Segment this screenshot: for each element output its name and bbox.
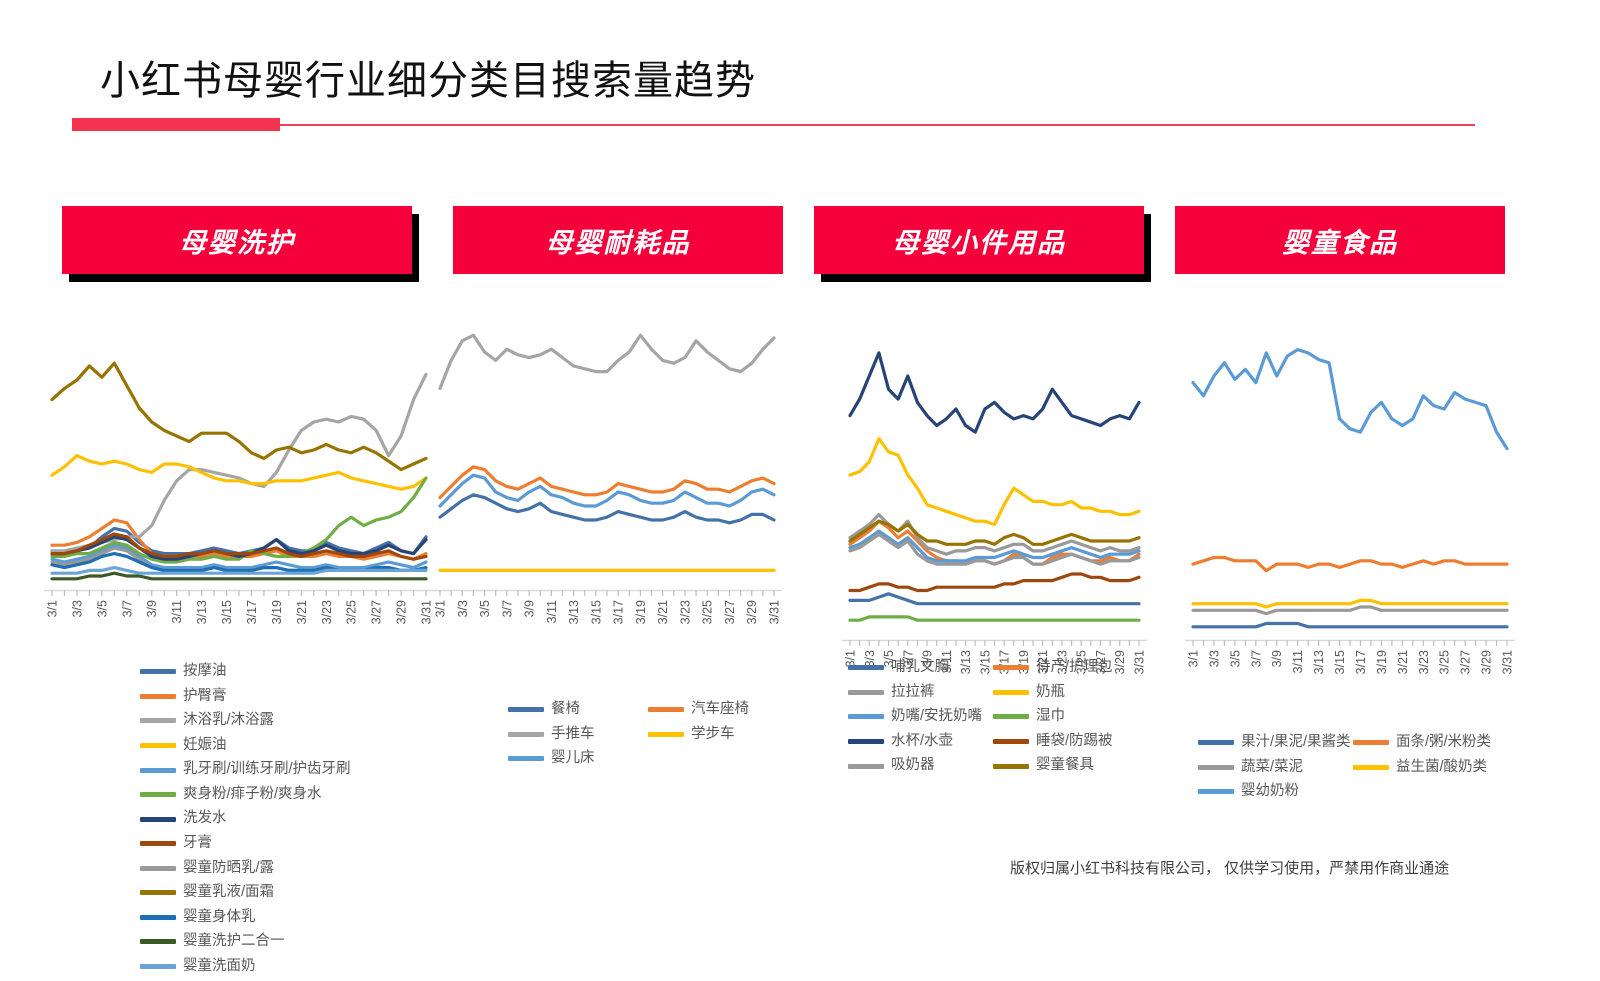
legend-item-label: 手推车 bbox=[551, 725, 595, 745]
series-line bbox=[850, 353, 1139, 432]
legend-color-swatch bbox=[140, 768, 176, 773]
legend-item-label: 婴童洗面奶 bbox=[183, 957, 256, 977]
x-axis-tick-label: 3/13 bbox=[1312, 650, 1326, 674]
series-line bbox=[1193, 350, 1507, 449]
legend-item[interactable]: 睡袋/防踢被 bbox=[993, 732, 1124, 752]
title-block: 小红书母婴行业细分类目搜索量趋势 bbox=[100, 58, 1500, 104]
x-axis-tick-label: 3/27 bbox=[723, 600, 737, 624]
x-axis-tick-label: 3/13 bbox=[195, 600, 209, 624]
section-chip-label-0: 母婴洗护 bbox=[62, 206, 412, 274]
legend-item-label: 餐椅 bbox=[551, 700, 580, 720]
series-line bbox=[52, 456, 426, 490]
series-line bbox=[440, 467, 774, 498]
legend-item-label: 奶瓶 bbox=[1036, 683, 1065, 703]
x-axis-tick-label: 3/27 bbox=[370, 600, 384, 624]
legend-color-swatch bbox=[648, 707, 684, 712]
legend-color-swatch bbox=[140, 939, 176, 944]
legend-color-swatch bbox=[848, 739, 884, 744]
legend-item-label: 益生菌/酸奶类 bbox=[1396, 758, 1487, 778]
title-underline-rule bbox=[72, 124, 1475, 126]
legend-item-label: 婴童餐具 bbox=[1036, 756, 1094, 776]
x-axis-tick-label: 3/5 bbox=[95, 600, 109, 617]
legend-color-swatch bbox=[140, 915, 176, 920]
legend-color-swatch bbox=[508, 732, 544, 737]
legend-color-swatch bbox=[140, 694, 176, 699]
legend-item[interactable]: 爽身粉/痱子粉/爽身水 bbox=[140, 785, 426, 805]
x-axis-tick-label: 3/21 bbox=[656, 600, 670, 624]
legend-color-swatch bbox=[993, 665, 1029, 670]
x-axis-tick-label: 3/25 bbox=[701, 600, 715, 624]
x-axis-tick-label: 3/23 bbox=[678, 600, 692, 624]
legend-item[interactable]: 拉拉裤 bbox=[848, 683, 979, 703]
x-axis-tick-label: 3/3 bbox=[70, 600, 84, 617]
x-axis-tick-label: 3/19 bbox=[1375, 650, 1389, 674]
x-axis-tick-label: 3/9 bbox=[1270, 650, 1284, 667]
legend-item[interactable]: 按摩油 bbox=[140, 662, 426, 682]
x-axis-tick-label: 3/17 bbox=[245, 600, 259, 624]
chart-panel-baby-food: 3/13/33/53/73/93/113/133/153/173/193/213… bbox=[1185, 310, 1515, 706]
legend-item[interactable]: 汽车座椅 bbox=[648, 700, 774, 720]
legend-color-swatch bbox=[140, 964, 176, 969]
legend-item[interactable]: 湿巾 bbox=[993, 707, 1124, 727]
legend-item-label: 哺乳文胸 bbox=[891, 658, 949, 678]
legend-item-label: 学步车 bbox=[691, 725, 735, 745]
x-axis-tick-label: 3/25 bbox=[1438, 650, 1452, 674]
legend-item[interactable]: 蔬菜/菜泥 bbox=[1198, 758, 1339, 778]
x-axis-tick-label: 3/15 bbox=[589, 600, 603, 624]
legend-color-swatch bbox=[1353, 765, 1389, 770]
legend-item-label: 按摩油 bbox=[183, 662, 227, 682]
x-axis-tick-label: 3/11 bbox=[1291, 650, 1305, 673]
legend-item-label: 护臀膏 bbox=[183, 687, 227, 707]
x-axis-tick-label: 3/29 bbox=[745, 600, 759, 624]
x-axis-tick-label: 3/19 bbox=[270, 600, 284, 624]
legend-item[interactable]: 奶瓶 bbox=[993, 683, 1124, 703]
legend-item-label: 睡袋/防踢被 bbox=[1036, 732, 1113, 752]
series-line bbox=[850, 617, 1139, 620]
x-axis-tick-label: 3/21 bbox=[295, 600, 309, 624]
section-chip-1[interactable]: 母婴耐耗品 bbox=[453, 206, 783, 274]
section-chip-label-2: 母婴小件用品 bbox=[814, 206, 1144, 274]
legend-item[interactable]: 牙膏 bbox=[140, 834, 426, 854]
legend-item[interactable]: 吸奶器 bbox=[848, 756, 979, 776]
x-axis-tick-label: 3/29 bbox=[1480, 650, 1494, 674]
legend-color-swatch bbox=[993, 764, 1029, 769]
line-chart-svg: 3/13/33/53/73/93/113/133/153/173/193/213… bbox=[842, 310, 1147, 706]
legend-color-swatch bbox=[993, 739, 1029, 744]
legend-item-label: 婴童洗护二合一 bbox=[183, 932, 285, 952]
series-line bbox=[440, 335, 774, 388]
x-axis-tick-label: 3/25 bbox=[345, 600, 359, 624]
legend-item[interactable]: 益生菌/酸奶类 bbox=[1353, 758, 1494, 778]
x-axis-tick-label: 3/3 bbox=[456, 600, 470, 617]
chart-legend-3: 果汁/果泥/果酱类面条/粥/米粉类蔬菜/菜泥益生菌/酸奶类婴幼奶粉 bbox=[1198, 733, 1508, 807]
legend-item-label: 湿巾 bbox=[1036, 707, 1065, 727]
legend-item[interactable]: 婴童洗护二合一 bbox=[140, 932, 426, 952]
legend-color-swatch bbox=[140, 669, 176, 674]
legend-color-swatch bbox=[140, 841, 176, 846]
legend-color-swatch bbox=[848, 690, 884, 695]
x-axis-tick-label: 3/11 bbox=[170, 600, 184, 623]
legend-item-label: 洗发水 bbox=[183, 809, 227, 829]
legend-item-label: 汽车座椅 bbox=[691, 700, 749, 720]
section-chip-label-3: 婴童食品 bbox=[1175, 206, 1505, 274]
legend-color-swatch bbox=[140, 743, 176, 748]
legend-item[interactable]: 手推车 bbox=[508, 725, 634, 745]
legend-color-swatch bbox=[140, 817, 176, 822]
x-axis-tick-label: 3/1 bbox=[434, 600, 448, 617]
legend-item-label: 奶嘴/安抚奶嘴 bbox=[891, 707, 982, 727]
legend-color-swatch bbox=[848, 764, 884, 769]
series-line bbox=[850, 574, 1139, 591]
x-axis-tick-label: 3/13 bbox=[567, 600, 581, 624]
x-axis-tick-label: 3/11 bbox=[545, 600, 559, 623]
legend-color-swatch bbox=[140, 718, 176, 723]
legend-item[interactable]: 沐浴乳/沐浴露 bbox=[140, 711, 426, 731]
x-axis-tick-label: 3/3 bbox=[1207, 650, 1221, 667]
legend-color-swatch bbox=[140, 866, 176, 871]
series-line bbox=[52, 363, 426, 469]
series-line bbox=[1193, 558, 1507, 571]
legend-item-label: 牙膏 bbox=[183, 834, 212, 854]
x-axis-tick-label: 3/31 bbox=[1501, 650, 1515, 674]
legend-item[interactable]: 待产/护理包 bbox=[993, 658, 1124, 678]
legend-item-label: 待产/护理包 bbox=[1036, 658, 1113, 678]
x-axis-tick-label: 3/1 bbox=[1187, 650, 1201, 667]
series-line bbox=[1193, 600, 1507, 607]
legend-item-label: 乳牙刷/训练牙刷/护齿牙刷 bbox=[183, 760, 351, 780]
copyright-footer: 版权归属小红书科技有限公司， 仅供学习使用，严禁用作商业通途 bbox=[1010, 857, 1449, 878]
x-axis-tick-label: 3/7 bbox=[120, 600, 134, 617]
legend-item[interactable]: 婴儿床 bbox=[508, 749, 634, 769]
chart-legend-1: 餐椅汽车座椅手推车学步车婴儿床 bbox=[508, 700, 788, 774]
x-axis-tick-label: 3/17 bbox=[612, 600, 626, 624]
series-line bbox=[1193, 624, 1507, 627]
x-axis-tick-label: 3/27 bbox=[1459, 650, 1473, 674]
legend-item-label: 爽身粉/痱子粉/爽身水 bbox=[183, 785, 322, 805]
x-axis-tick-label: 3/17 bbox=[1354, 650, 1368, 674]
x-axis-tick-label: 3/5 bbox=[478, 600, 492, 617]
legend-color-swatch bbox=[140, 890, 176, 895]
legend-item-label: 蔬菜/菜泥 bbox=[1241, 758, 1303, 778]
legend-item-label: 婴童身体乳 bbox=[183, 908, 256, 928]
line-chart-svg: 3/13/33/53/73/93/113/133/153/173/193/213… bbox=[44, 310, 434, 656]
legend-color-swatch bbox=[848, 665, 884, 670]
x-axis-tick-label: 3/19 bbox=[634, 600, 648, 624]
x-axis-tick-label: 3/15 bbox=[1333, 650, 1347, 674]
legend-item-label: 婴童防晒乳/露 bbox=[183, 859, 274, 879]
legend-item-label: 婴儿床 bbox=[551, 749, 595, 769]
legend-color-swatch bbox=[648, 732, 684, 737]
legend-color-swatch bbox=[508, 756, 544, 761]
legend-item-label: 婴幼奶粉 bbox=[1241, 782, 1299, 802]
legend-item[interactable]: 乳牙刷/训练牙刷/护齿牙刷 bbox=[140, 760, 426, 780]
legend-item[interactable]: 学步车 bbox=[648, 725, 774, 745]
x-axis-tick-label: 3/9 bbox=[145, 600, 159, 617]
series-line bbox=[1193, 607, 1507, 614]
section-chip-2[interactable]: 母婴小件用品 bbox=[814, 206, 1144, 274]
legend-item[interactable]: 哺乳文胸 bbox=[848, 658, 979, 678]
legend-item-label: 妊娠油 bbox=[183, 736, 227, 756]
x-axis-tick-label: 3/7 bbox=[1249, 650, 1263, 667]
x-axis-tick-label: 3/23 bbox=[1417, 650, 1431, 674]
line-chart-svg: 3/13/33/53/73/93/113/133/153/173/193/213… bbox=[1185, 310, 1515, 706]
legend-item[interactable]: 奶嘴/安抚奶嘴 bbox=[848, 707, 979, 727]
legend-item[interactable]: 护臀膏 bbox=[140, 687, 426, 707]
legend-item-label: 水杯/水壶 bbox=[891, 732, 953, 752]
x-axis-tick-label: 3/31 bbox=[768, 600, 782, 624]
chart-panel-small-items: 3/13/33/53/73/93/113/133/153/173/193/213… bbox=[842, 310, 1147, 706]
legend-item-label: 沐浴乳/沐浴露 bbox=[183, 711, 274, 731]
legend-item[interactable]: 水杯/水壶 bbox=[848, 732, 979, 752]
legend-item-label: 果汁/果泥/果酱类 bbox=[1241, 733, 1351, 753]
legend-color-swatch bbox=[140, 792, 176, 797]
series-line bbox=[850, 439, 1139, 525]
section-chip-3[interactable]: 婴童食品 bbox=[1175, 206, 1505, 274]
chart-legend-0: 按摩油护臀膏沐浴乳/沐浴露妊娠油乳牙刷/训练牙刷/护齿牙刷爽身粉/痱子粉/爽身水… bbox=[140, 662, 440, 981]
legend-color-swatch bbox=[993, 714, 1029, 719]
line-chart-svg: 3/13/33/53/73/93/113/133/153/173/193/213… bbox=[432, 310, 782, 656]
section-chip-label-1: 母婴耐耗品 bbox=[453, 206, 783, 274]
legend-item[interactable]: 婴幼奶粉 bbox=[1198, 782, 1339, 802]
legend-item-label: 面条/粥/米粉类 bbox=[1396, 733, 1491, 753]
legend-item[interactable]: 婴童身体乳 bbox=[140, 908, 426, 928]
legend-item[interactable]: 妊娠油 bbox=[140, 736, 426, 756]
legend-color-swatch bbox=[1198, 789, 1234, 794]
x-axis-tick-label: 3/5 bbox=[1228, 650, 1242, 667]
legend-item[interactable]: 果汁/果泥/果酱类 bbox=[1198, 733, 1339, 753]
series-line bbox=[850, 594, 1139, 604]
legend-item[interactable]: 婴童防晒乳/露 bbox=[140, 859, 426, 879]
legend-item[interactable]: 面条/粥/米粉类 bbox=[1353, 733, 1494, 753]
x-axis-tick-label: 3/15 bbox=[220, 600, 234, 624]
section-chip-0[interactable]: 母婴洗护 bbox=[62, 206, 412, 274]
x-axis-tick-label: 3/21 bbox=[1396, 650, 1410, 674]
legend-item[interactable]: 婴童洗面奶 bbox=[140, 957, 426, 977]
legend-item[interactable]: 洗发水 bbox=[140, 809, 426, 829]
chart-legend-2: 哺乳文胸待产/护理包拉拉裤奶瓶奶嘴/安抚奶嘴湿巾水杯/水壶睡袋/防踢被吸奶器婴童… bbox=[848, 658, 1138, 781]
legend-color-swatch bbox=[848, 714, 884, 719]
legend-color-swatch bbox=[1353, 740, 1389, 745]
legend-item-label: 拉拉裤 bbox=[891, 683, 935, 703]
chart-panel-durable-goods: 3/13/33/53/73/93/113/133/153/173/193/213… bbox=[432, 310, 782, 656]
page-title: 小红书母婴行业细分类目搜索量趋势 bbox=[100, 58, 1500, 104]
legend-color-swatch bbox=[508, 707, 544, 712]
x-axis-tick-label: 3/9 bbox=[523, 600, 537, 617]
legend-color-swatch bbox=[1198, 740, 1234, 745]
title-underline-accent bbox=[72, 118, 280, 131]
legend-item[interactable]: 婴童餐具 bbox=[993, 756, 1124, 776]
legend-color-swatch bbox=[1198, 765, 1234, 770]
x-axis-tick-label: 3/23 bbox=[320, 600, 334, 624]
legend-item[interactable]: 餐椅 bbox=[508, 700, 634, 720]
x-axis-tick-label: 3/29 bbox=[395, 600, 409, 624]
legend-color-swatch bbox=[993, 690, 1029, 695]
legend-item-label: 吸奶器 bbox=[891, 756, 935, 776]
chart-panel-mother-baby-wash-care: 3/13/33/53/73/93/113/133/153/173/193/213… bbox=[44, 310, 434, 656]
x-axis-tick-label: 3/1 bbox=[46, 600, 60, 617]
x-axis-tick-label: 3/7 bbox=[500, 600, 514, 617]
